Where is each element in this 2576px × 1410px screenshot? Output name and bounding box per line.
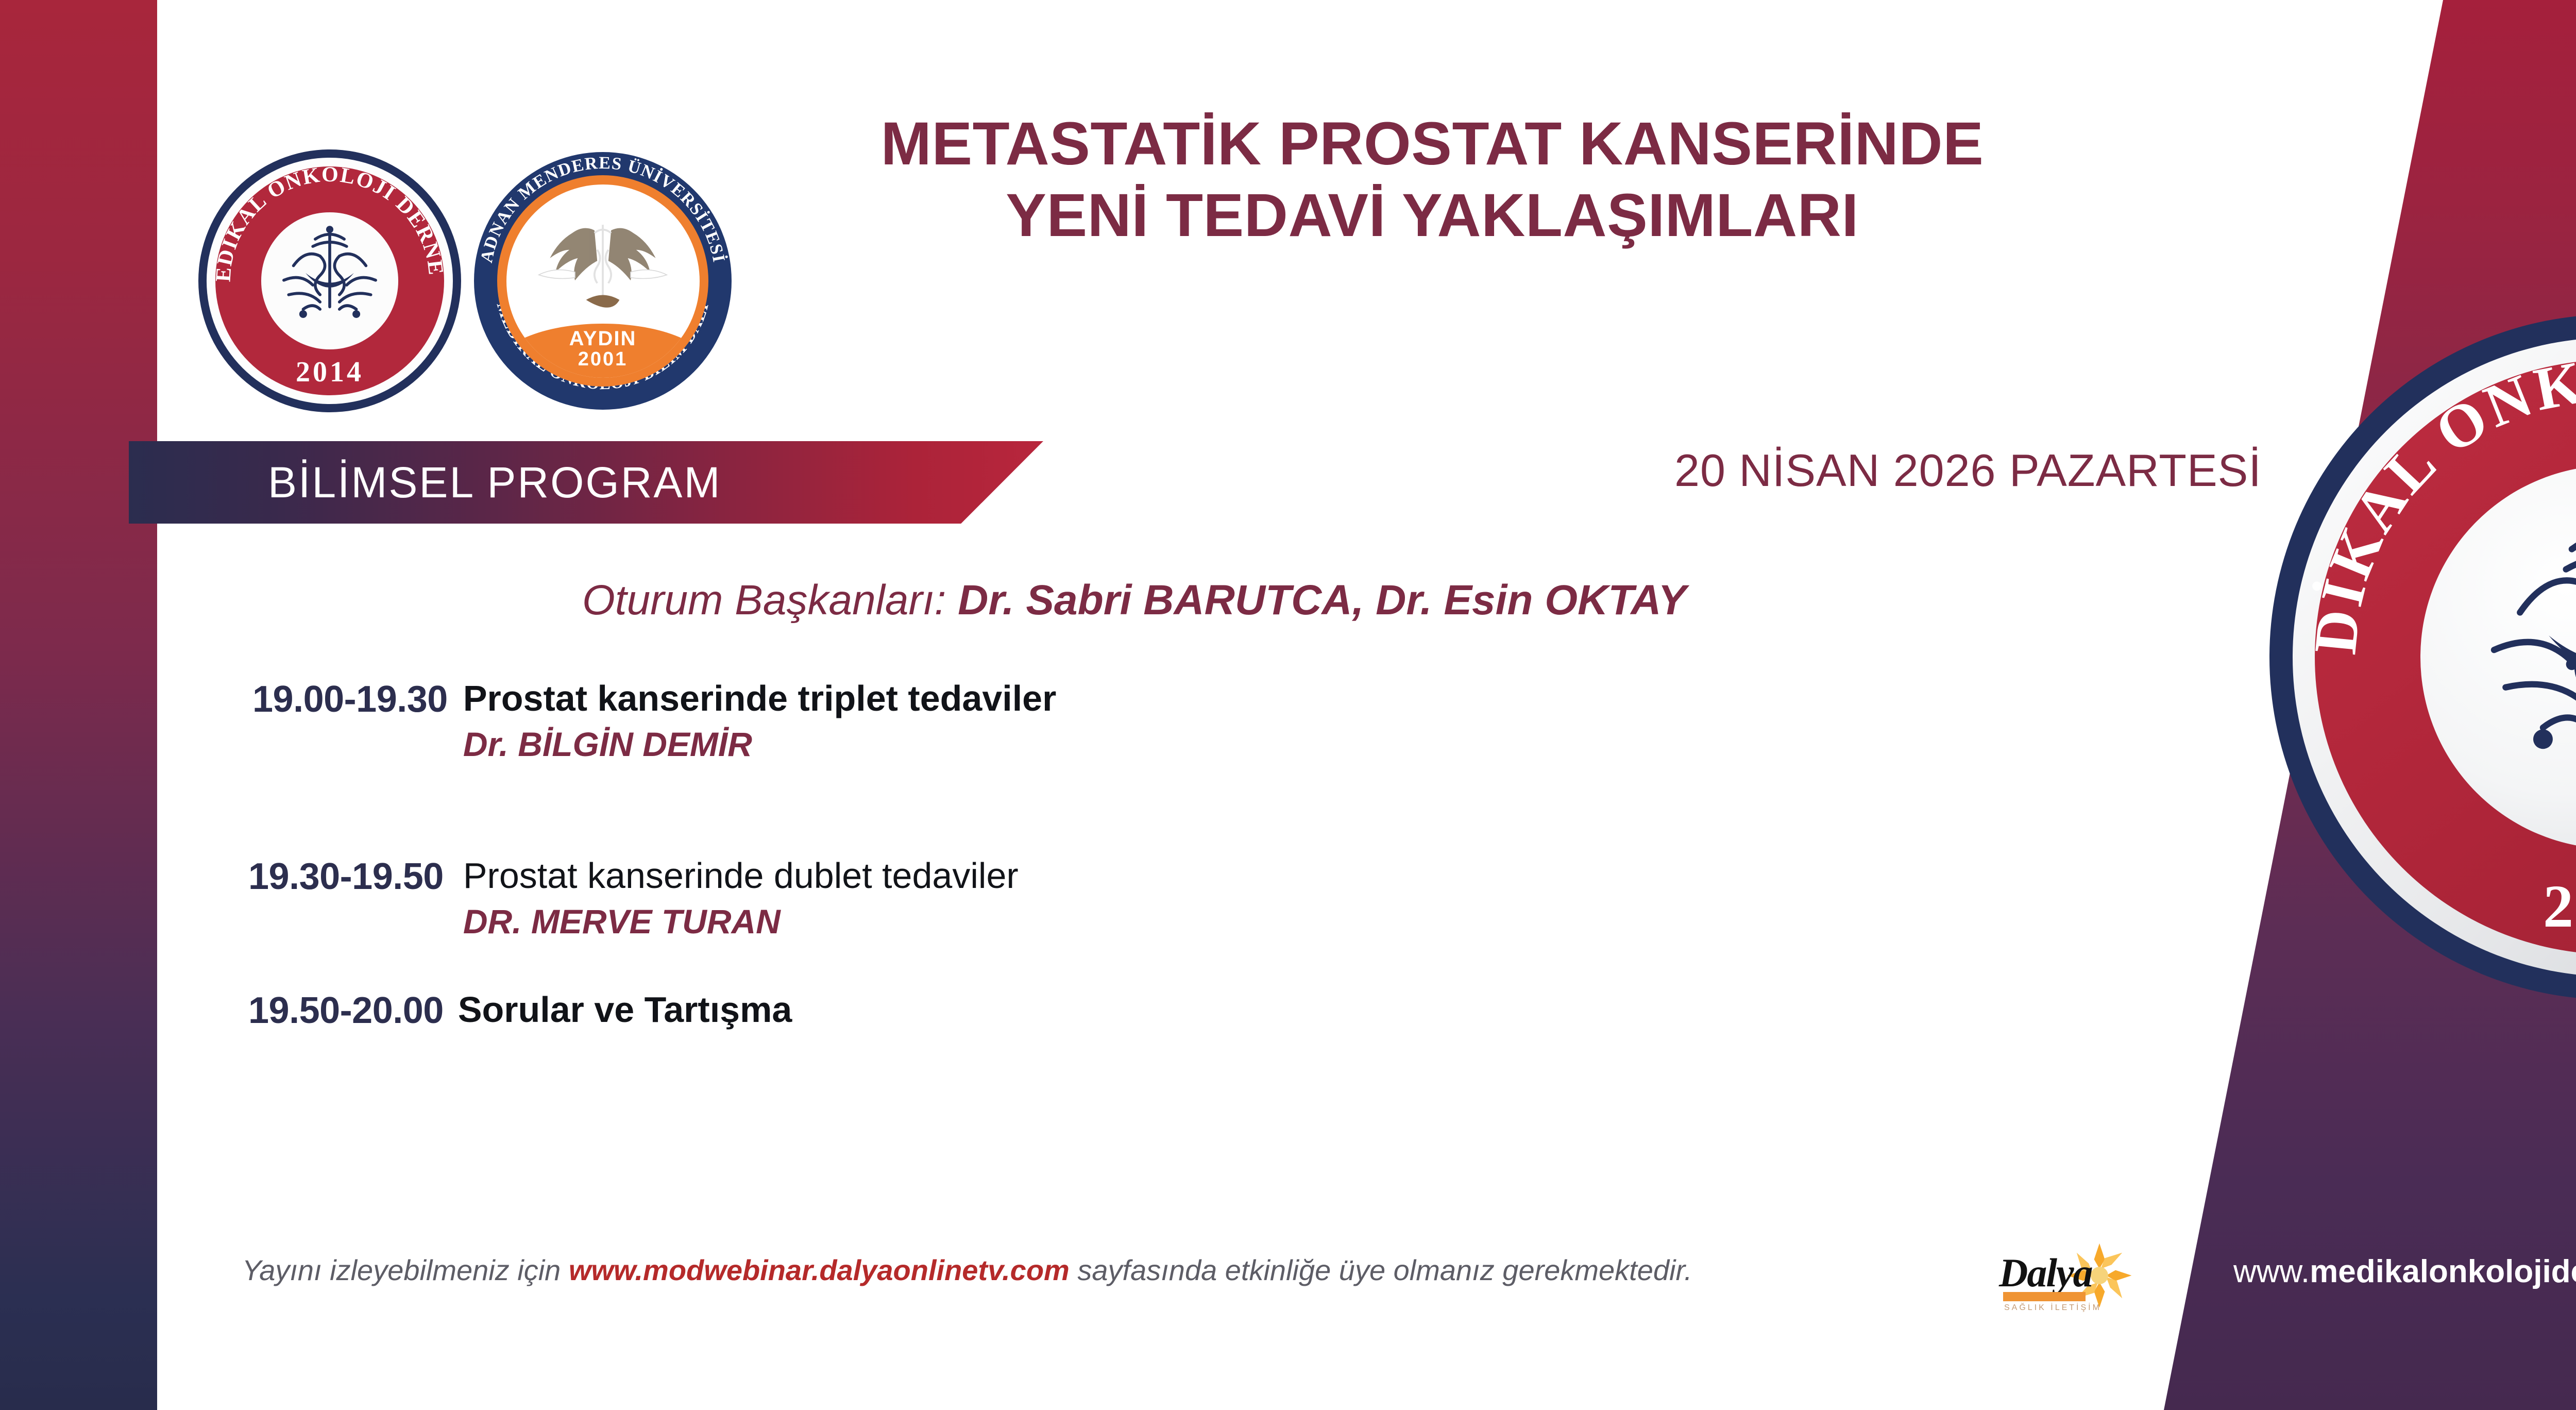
caduceus-crab-icon — [269, 210, 391, 331]
mod-large-seal: MEDİKAL ONKOLOJİ DERNEĞİ — [2269, 314, 2576, 1000]
caduceus-crab-icon — [2468, 486, 2576, 774]
poster-title: METASTATİK PROSTAT KANSERİNDE YENİ TEDAV… — [762, 108, 2102, 251]
mod-association-logo: MEDİKAL ONKOLOJİ DERNEĞİ — [198, 149, 461, 412]
schedule-entry-body: Prostat kanserinde dublet tedaviler DR. … — [463, 855, 1019, 941]
website-prefix: www. — [2233, 1254, 2310, 1289]
schedule-speaker: Dr. BİLGİN DEMİR — [463, 725, 1057, 764]
schedule-time: 19.00-19.30 — [252, 678, 448, 720]
dalya-subtitle: SAĞLIK İLETİŞİM — [2004, 1303, 2102, 1313]
banner-label: BİLİMSEL PROGRAM — [129, 458, 721, 508]
website-domain: medikalonkolojidernegi — [2310, 1254, 2576, 1289]
schedule-time: 19.30-19.50 — [248, 855, 444, 898]
double-eagle-icon — [533, 219, 672, 320]
large-seal-year-label: 2014 — [2269, 871, 2576, 942]
association-website[interactable]: www.medikalonkolojidernegi.com — [2233, 1253, 2576, 1290]
title-line-2: YENİ TEDAVİ YAKLAŞIMLARI — [762, 180, 2102, 251]
dalya-sponsor-logo: Dalya SAĞLIK İLETİŞİM — [1999, 1234, 2128, 1317]
adu-white-disc: AYDIN 2001 — [506, 184, 700, 378]
session-chairs-label: Oturum Başkanları: — [582, 577, 946, 624]
title-line-1: METASTATİK PROSTAT KANSERİNDE — [762, 108, 2102, 180]
schedule-row: 19.30-19.50 Prostat kanserinde dublet te… — [248, 855, 1019, 941]
schedule-time: 19.50-20.00 — [248, 989, 444, 1032]
schedule-entry-body: Sorular ve Tartışma — [458, 989, 792, 1030]
poster-canvas: MEDİKAL ONKOLOJİ DERNEĞİ — [0, 0, 2576, 1410]
adu-city-label: AYDIN — [506, 328, 700, 349]
webinar-url[interactable]: www.modwebinar.dalyaonlinetv.com — [569, 1254, 1070, 1286]
schedule-row: 19.00-19.30 Prostat kanserinde triplet t… — [252, 678, 1056, 764]
scientific-program-banner: BİLİMSEL PROGRAM — [129, 441, 1043, 524]
event-date: 20 NİSAN 2026 PAZARTESİ — [1674, 444, 2262, 497]
adu-base-text: AYDIN 2001 — [506, 328, 700, 370]
dalya-wordmark: Dalya — [1999, 1250, 2092, 1296]
schedule-entry-body: Prostat kanserinde triplet tedaviler Dr.… — [463, 678, 1057, 764]
dalya-orange-bar — [2003, 1292, 2086, 1301]
mod-year-label: 2014 — [198, 356, 461, 389]
registration-note-suffix: sayfasında etkinliğe üye olmanız gerekme… — [1070, 1254, 1692, 1286]
registration-note-prefix: Yayını izleyebilmeniz için — [242, 1254, 569, 1286]
registration-note: Yayını izleyebilmeniz için www.modwebina… — [242, 1253, 1692, 1287]
session-chairs: Oturum Başkanları: Dr. Sabri BARUTCA, Dr… — [582, 576, 1686, 625]
adu-year-label: 2001 — [506, 349, 700, 370]
adu-university-logo: ADNAN MENDERES ÜNİVERSİTESİ MEDİKAL ONKO… — [474, 152, 732, 410]
schedule-topic: Prostat kanserinde triplet tedaviler — [463, 678, 1057, 718]
schedule-speaker: DR. MERVE TURAN — [463, 902, 1019, 941]
session-chairs-names: Dr. Sabri BARUTCA, Dr. Esin OKTAY — [958, 577, 1686, 624]
left-gradient-strip — [0, 0, 157, 1410]
schedule-topic: Prostat kanserinde dublet tedaviler — [463, 855, 1019, 896]
schedule-row: 19.50-20.00 Sorular ve Tartışma — [248, 989, 792, 1032]
schedule-topic: Sorular ve Tartışma — [458, 989, 792, 1030]
